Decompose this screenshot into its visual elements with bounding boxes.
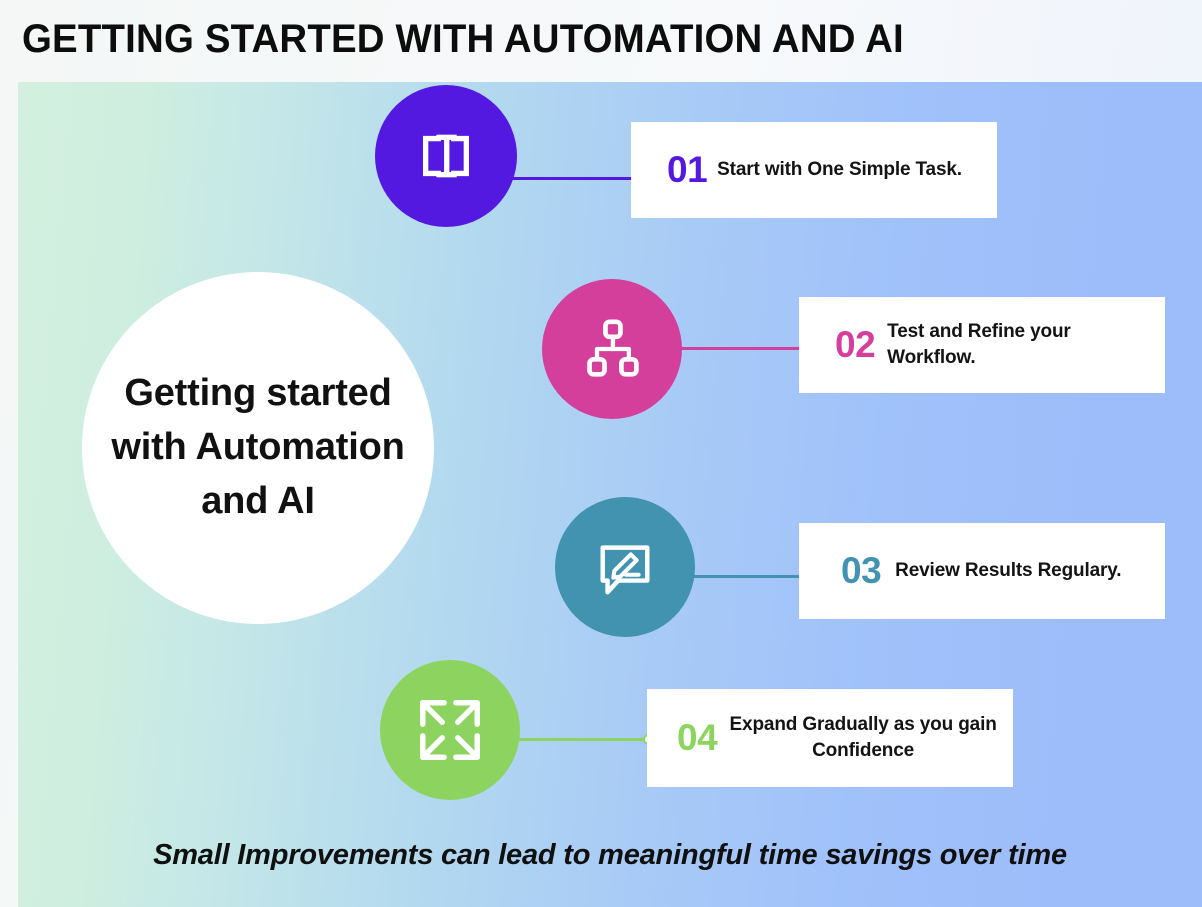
step-icon-bubble-03[interactable]: [555, 497, 695, 637]
connector-line-04: [515, 738, 645, 741]
step-number-03: 03: [841, 550, 881, 592]
step-text-01: Start with One Simple Task.: [717, 157, 962, 183]
step-label-box-04[interactable]: 04 Expand Gradually as you gain Confiden…: [647, 689, 1013, 787]
center-hub-line-2: with Automation: [108, 421, 408, 475]
step-icon-bubble-02[interactable]: [542, 279, 682, 419]
step-number-01: 01: [667, 149, 707, 191]
step-label-box-01[interactable]: 01 Start with One Simple Task.: [631, 122, 997, 218]
step-text-03: Review Results Regulary.: [895, 558, 1121, 584]
step-text-04-line1: Expand Gradually as you gain: [730, 714, 997, 735]
step-icon-bubble-01[interactable]: [375, 85, 517, 227]
footer-text: Small Improvements can lead to meaningfu…: [153, 839, 1067, 871]
footer: Small Improvements can lead to meaningfu…: [18, 839, 1202, 872]
step-number-04: 04: [677, 717, 717, 759]
page-title: GETTING STARTED WITH AUTOMATION AND AI: [22, 17, 904, 62]
center-hub-label: Getting started with Automation and AI: [108, 367, 408, 529]
step-text-04: Expand Gradually as you gain Confidence: [727, 712, 999, 763]
center-hub-line-1: Getting started: [108, 367, 408, 421]
connector-line-02: [678, 347, 808, 350]
hierarchy-icon: [582, 318, 642, 380]
step-number-02: 02: [835, 324, 875, 366]
step-icon-bubble-04[interactable]: [380, 660, 520, 800]
step-text-04-line2: Confidence: [812, 740, 914, 761]
step-text-02: Test and Refine your Workflow.: [887, 319, 1155, 370]
center-hub-line-3: and AI: [108, 475, 408, 529]
step-label-box-03[interactable]: 03 Review Results Regulary.: [799, 523, 1165, 619]
step-label-box-02[interactable]: 02 Test and Refine your Workflow.: [799, 297, 1165, 393]
center-hub-circle: Getting started with Automation and AI: [82, 272, 434, 624]
header: GETTING STARTED WITH AUTOMATION AND AI: [0, 0, 1202, 78]
text-cursor-icon: [415, 125, 477, 187]
infographic-card: Getting started with Automation and AI: [18, 82, 1202, 907]
comment-edit-icon: [594, 536, 656, 598]
connector-line-01: [512, 177, 642, 180]
expand-arrows-icon: [415, 695, 485, 765]
